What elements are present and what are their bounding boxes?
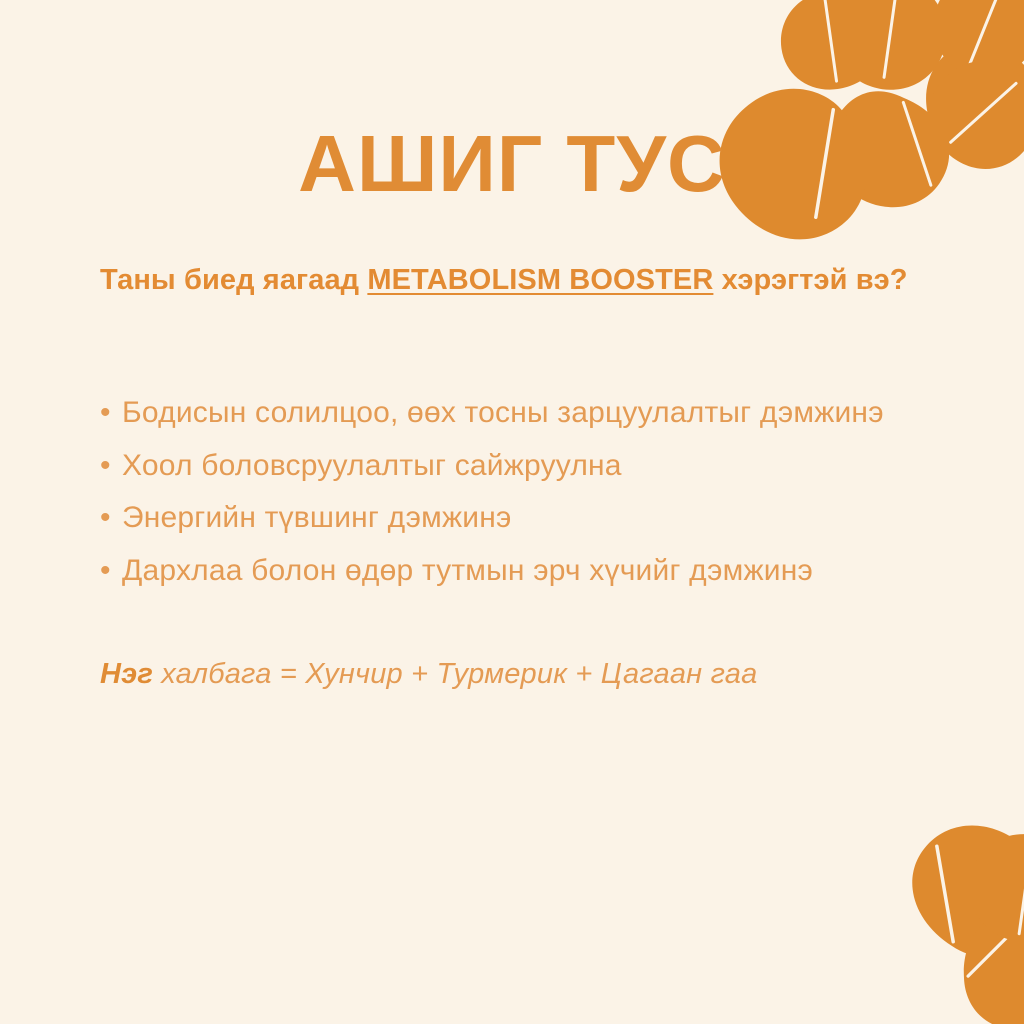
footer-note-rest: халбага = Хунчир + Турмерик + Цагаан гаа	[153, 658, 757, 690]
footer-note-lead: Нэг	[100, 658, 153, 690]
list-item: Энергийн түвшинг дэмжинэ	[100, 494, 930, 543]
subtitle-tail: хэрэгтэй вэ?	[713, 264, 907, 296]
subtitle-highlight: METABOLISM BOOSTER	[367, 264, 713, 296]
page-title: АШИГ ТУС	[0, 122, 1024, 207]
benefits-list: Бодисын солилцоо, өөх тосны зарцуулалтыг…	[100, 389, 930, 595]
slide-canvas: АШИГ ТУС Таны биед яагаад METABOLISM BOO…	[0, 0, 1024, 1024]
list-item: Хоол боловсруулалтыг сайжруулна	[100, 442, 930, 491]
footer-note: Нэг халбага = Хунчир + Турмерик + Цагаан…	[100, 653, 930, 697]
subtitle: Таны биед яагаад METABOLISM BOOSTER хэрэ…	[100, 258, 930, 303]
content-column: Таны биед яагаад METABOLISM BOOSTER хэрэ…	[100, 258, 930, 726]
list-item: Дархлаа болон өдөр тутмын эрч хүчийг дэм…	[100, 547, 930, 596]
list-item: Бодисын солилцоо, өөх тосны зарцуулалтыг…	[100, 389, 930, 438]
leaf-cluster-bottom-right-icon	[844, 850, 1024, 1024]
subtitle-lead: Таны биед яагаад	[100, 264, 367, 296]
